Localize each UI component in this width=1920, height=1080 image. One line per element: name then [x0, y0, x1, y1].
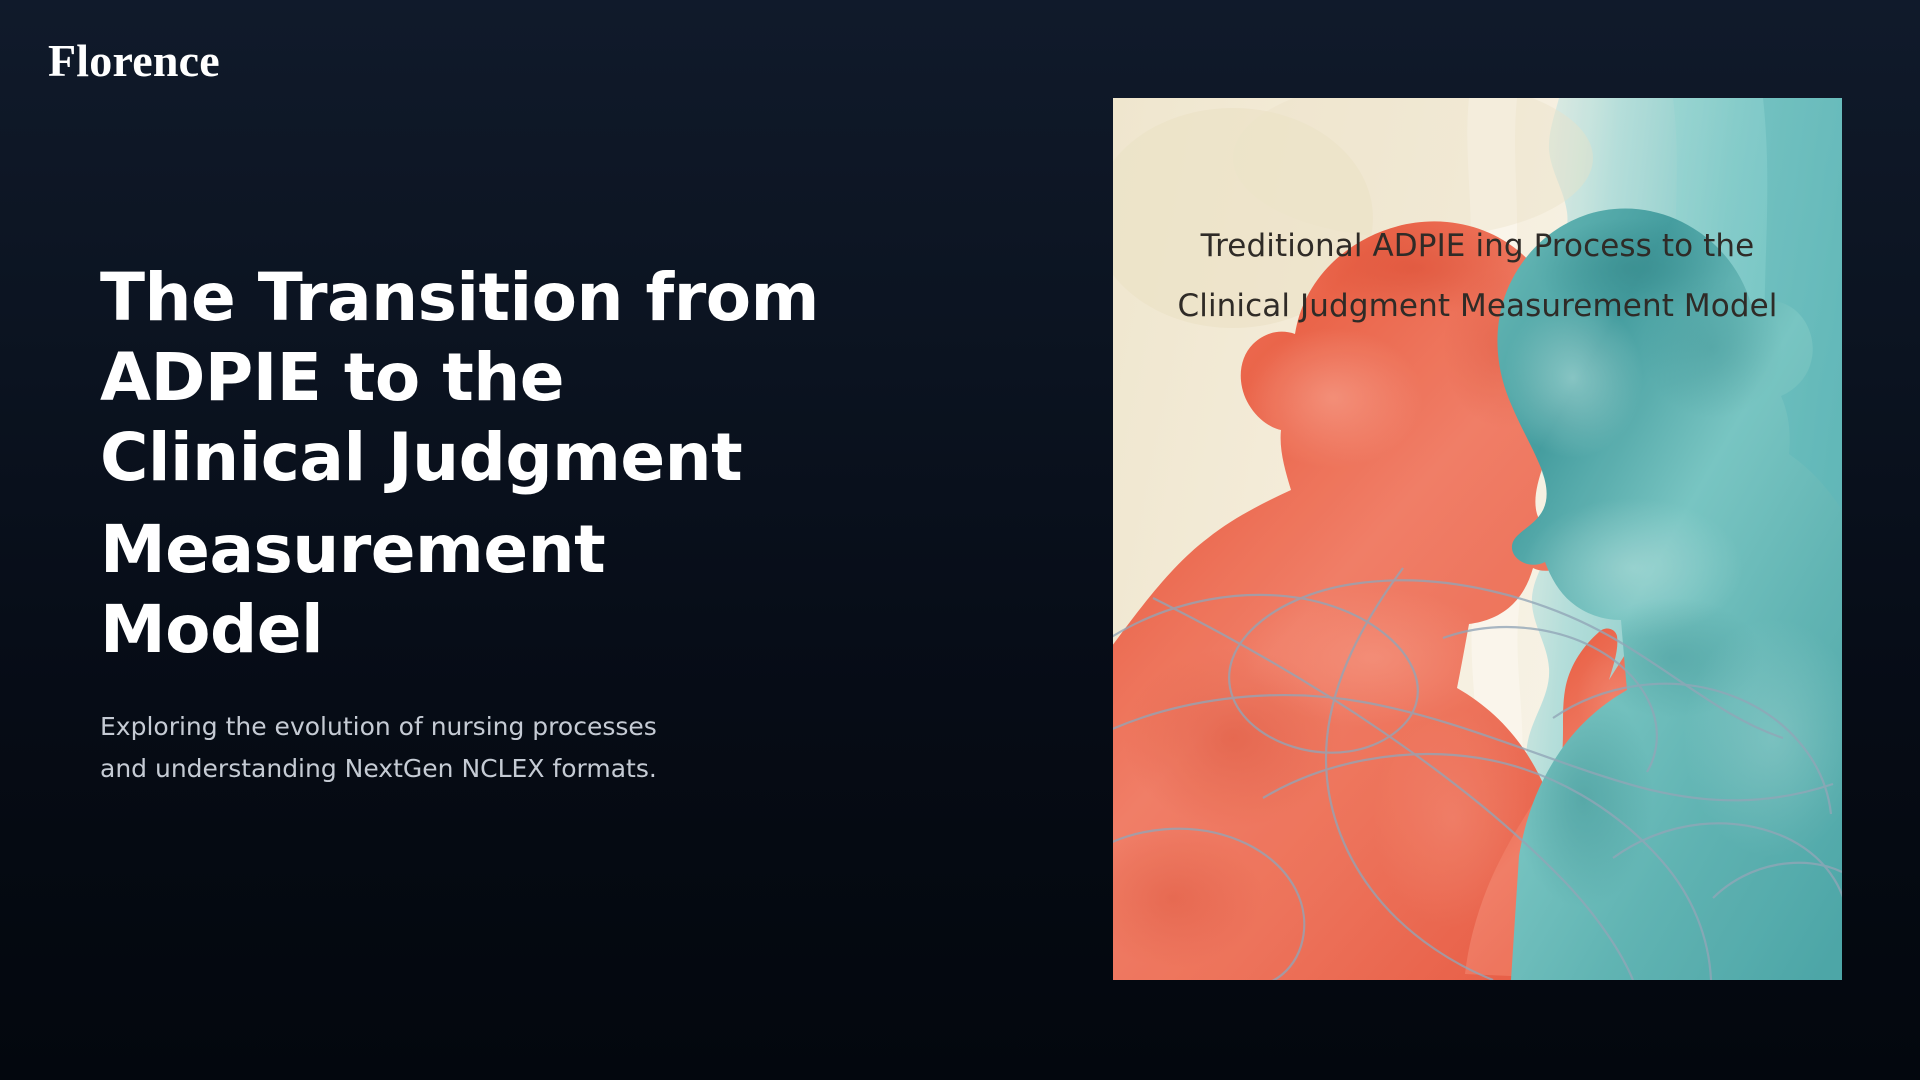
hero-illustration: Treditional ADPIE ing Process to the Cli… [1113, 98, 1842, 980]
headline-line-1: The Transition from [100, 258, 860, 338]
brand-logo[interactable]: Florence [48, 38, 220, 84]
headline-line-3: Clinical Judgment [100, 418, 860, 498]
page-title: The Transition from ADPIE to the Clinica… [100, 258, 860, 670]
headline-line-4: Measurement [100, 510, 860, 590]
headline-line-5: Model [100, 590, 860, 670]
hero-text-column: The Transition from ADPIE to the Clinica… [100, 258, 860, 790]
watercolor-illustration-graphic [1113, 98, 1842, 980]
hero-subtitle: Exploring the evolution of nursing proce… [100, 706, 700, 790]
headline-line-2: ADPIE to the [100, 338, 860, 418]
